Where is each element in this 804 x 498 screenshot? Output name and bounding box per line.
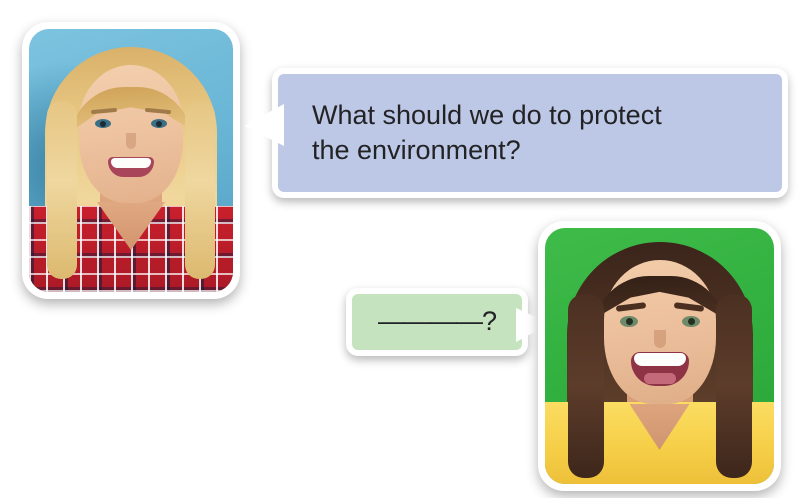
bubble-tail-left-icon [244,104,284,146]
eye-right [151,119,167,128]
speech-bubble-question: What should we do to protect the environ… [272,68,788,198]
nose [654,330,666,348]
hair-strand-right [185,101,215,279]
eye-left [620,316,638,327]
eye-right [682,316,700,327]
eye-left [95,119,111,128]
hair-fringe [70,87,192,165]
teeth [111,158,151,168]
answer-blank-text: ————? [378,304,496,339]
dialogue-scene: What should we do to protect the environ… [0,0,804,498]
tongue [644,373,676,384]
hair-strand-left [568,294,604,478]
speaker-photo-brunette-woman [538,221,781,491]
nose [126,133,136,149]
photo-frame-inner [29,29,233,292]
speech-bubble-answer-blank[interactable]: ————? [346,288,528,356]
hair-strand-right [716,294,752,478]
hair-strand-left [47,101,77,279]
photo-frame-inner [545,228,774,484]
smiling-mouth [108,157,154,177]
speaker-photo-blonde-woman [22,22,240,299]
teeth [634,353,686,366]
question-text: What should we do to protect the environ… [312,98,662,168]
